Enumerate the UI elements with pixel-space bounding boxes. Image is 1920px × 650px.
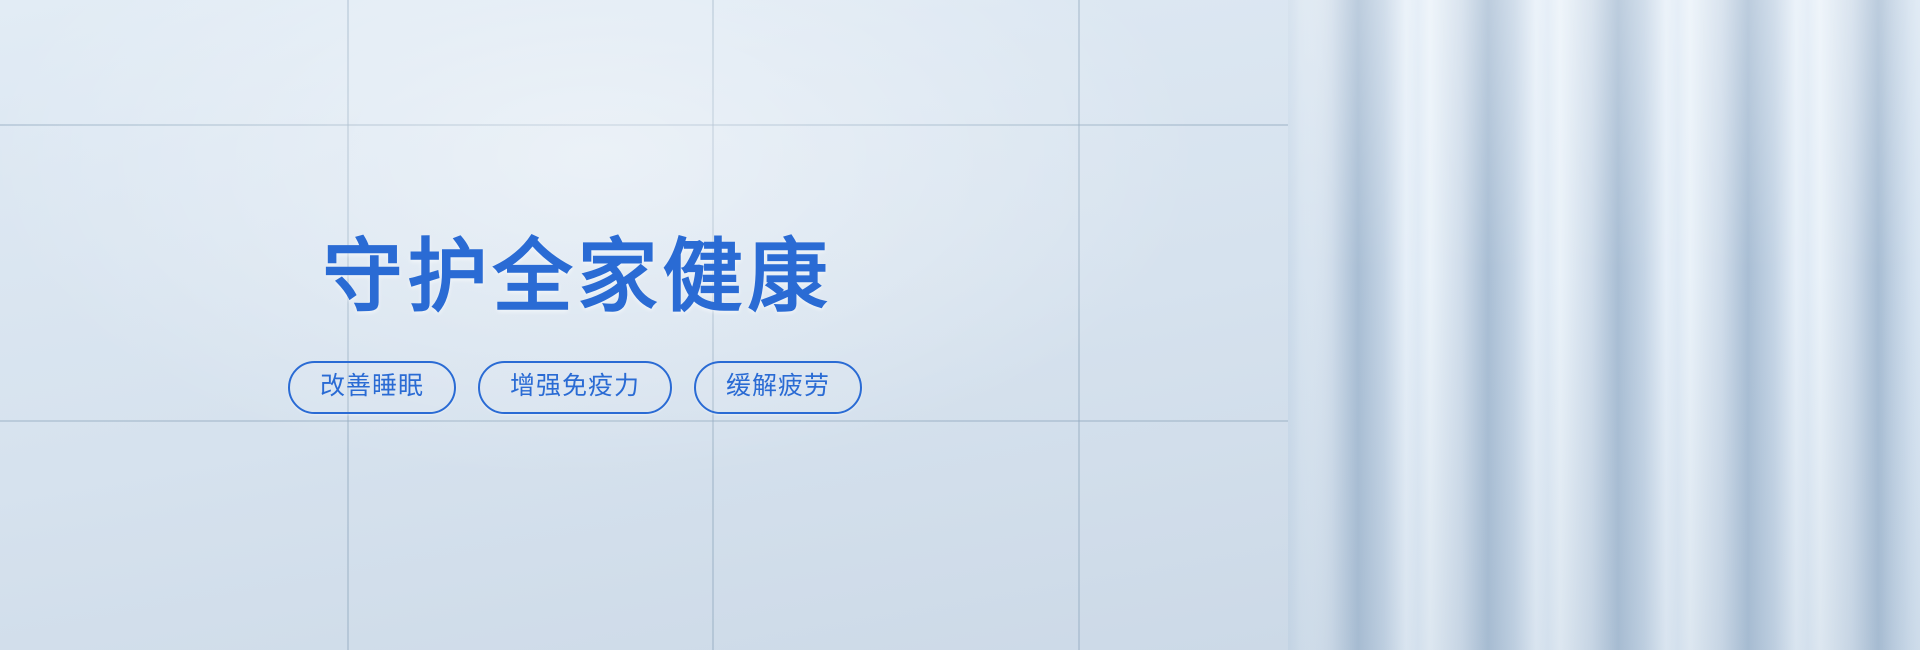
hero-content: 守护全家健康 改善睡眠 增强免疫力 缓解疲劳 <box>0 0 1150 650</box>
page-title: 守护全家健康 <box>318 237 833 317</box>
benefit-tag-relieve-fatigue[interactable]: 缓解疲劳 <box>694 361 862 414</box>
health-promo-banner: 守护全家健康 改善睡眠 增强免疫力 缓解疲劳 <box>0 0 1920 650</box>
curtain-panel <box>1288 0 1920 650</box>
benefit-tag-improve-sleep[interactable]: 改善睡眠 <box>288 361 456 414</box>
benefit-tag-boost-immunity[interactable]: 增强免疫力 <box>478 361 672 414</box>
benefit-tag-row: 改善睡眠 增强免疫力 缓解疲劳 <box>288 361 862 414</box>
